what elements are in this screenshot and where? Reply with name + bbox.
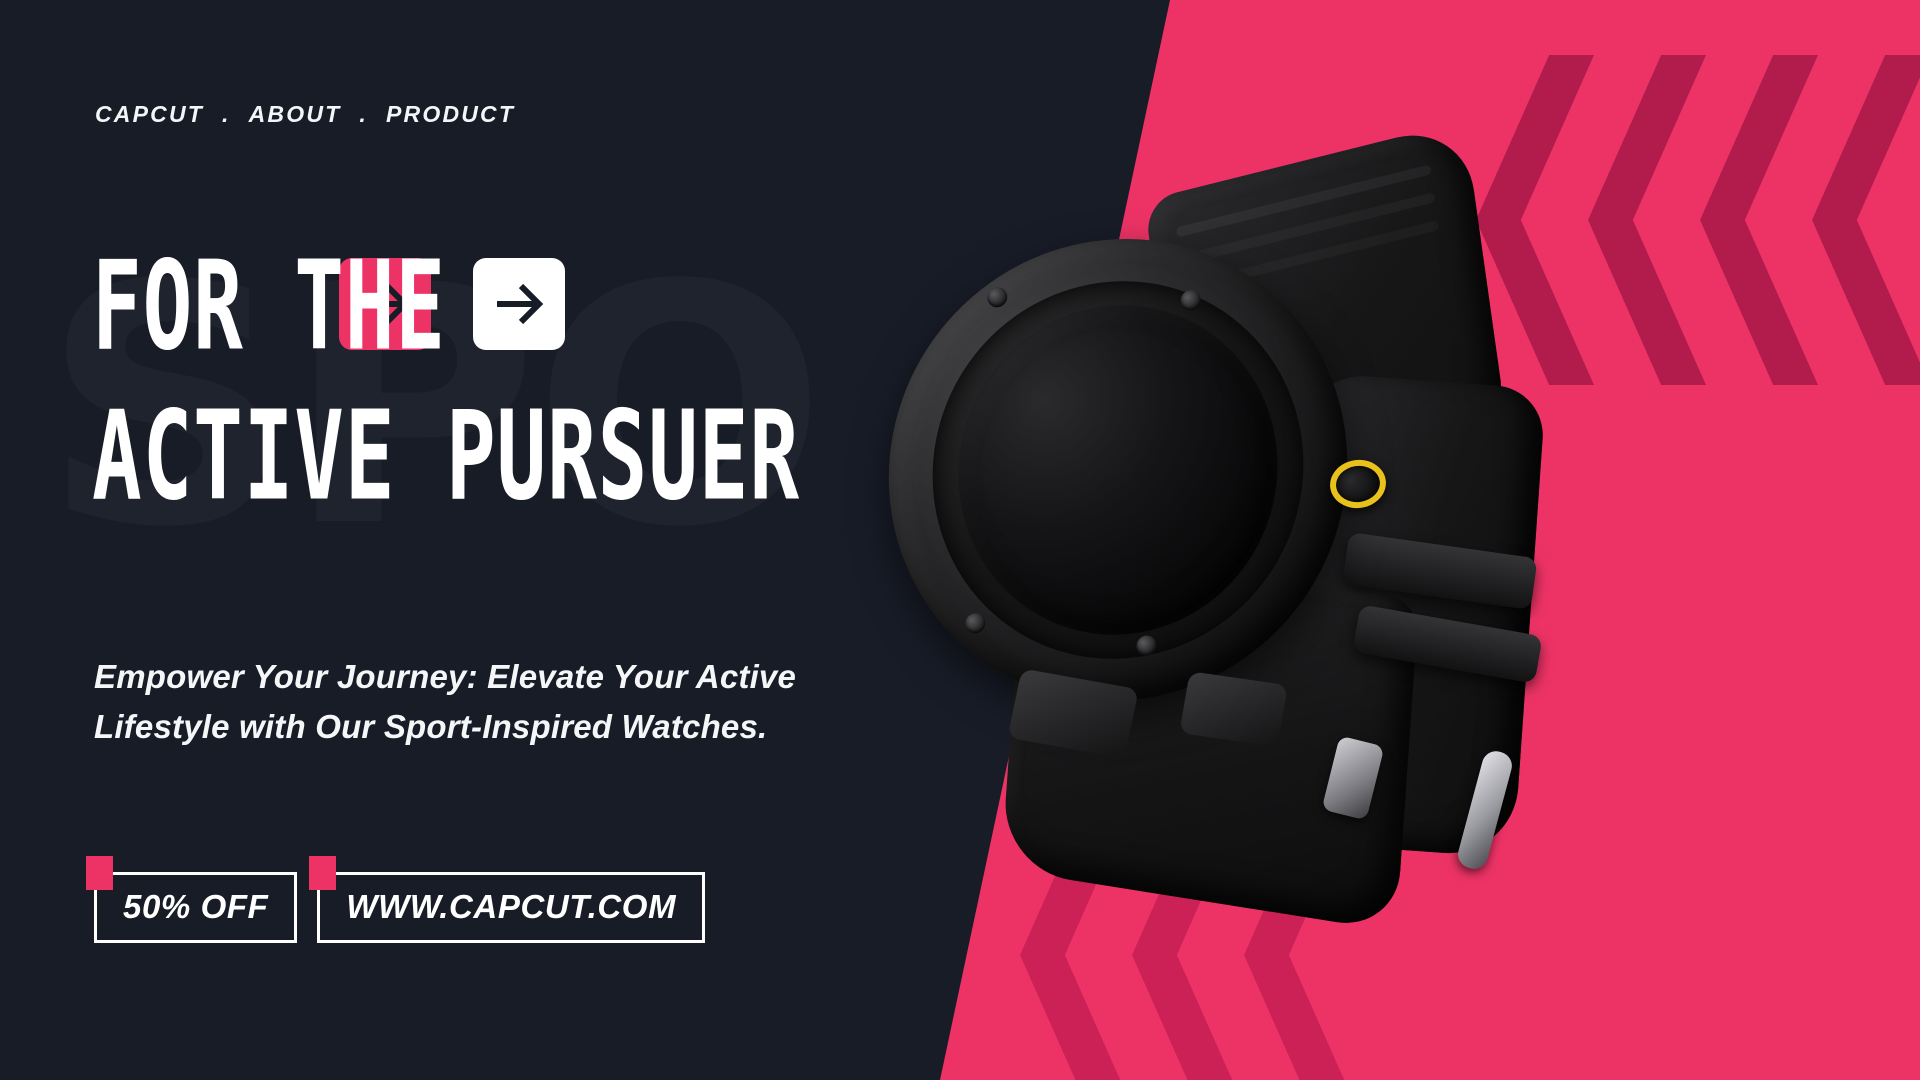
arrow-right-icon [492,277,546,331]
hero-headline: FOR THE ACTIV [92,250,892,488]
chevron-shape [1812,55,1920,385]
nav-separator-dot: . [222,101,231,128]
headline-row-one: FOR THE [92,250,892,350]
website-badge-box[interactable]: WWW.CAPCUT.COM [317,872,705,943]
headline-line-2: ACTIVE PURSUER [92,400,780,513]
badge-accent-square [86,856,113,890]
headline-line-1: FOR THE [92,250,446,363]
nav-item-capcut[interactable]: CAPCUT [95,101,204,128]
subtitle-line-1: Empower Your Journey: Elevate Your Activ… [94,652,814,702]
discount-badge-label: 50% OFF [123,888,268,926]
badge-accent-square [309,856,336,890]
watch-screw-icon [986,286,1008,309]
nav-separator-dot: . [359,101,368,128]
nav-item-about[interactable]: ABOUT [249,101,342,128]
website-badge-label: WWW.CAPCUT.COM [346,888,676,926]
discount-badge-box[interactable]: 50% OFF [94,872,297,943]
left-content-column: CAPCUT . ABOUT . PRODUCT FOR THE [0,0,980,1080]
cta-badge-row: 50% OFF WWW.CAPCUT.COM [94,872,705,943]
nav-item-product[interactable]: PRODUCT [386,101,515,128]
website-badge[interactable]: WWW.CAPCUT.COM [317,872,705,943]
watch-face-screen [942,285,1293,656]
discount-badge[interactable]: 50% OFF [94,872,297,943]
secondary-arrow-button[interactable] [473,258,565,350]
hero-subtitle: Empower Your Journey: Elevate Your Activ… [94,652,814,752]
subtitle-line-2: Lifestyle with Our Sport-Inspired Watche… [94,702,814,752]
banner-canvas: SPO CAPCUT . ABOUT . PRODUCT [0,0,1920,1080]
chevron-shape [1700,55,1818,385]
top-navigation: CAPCUT . ABOUT . PRODUCT [95,101,515,128]
